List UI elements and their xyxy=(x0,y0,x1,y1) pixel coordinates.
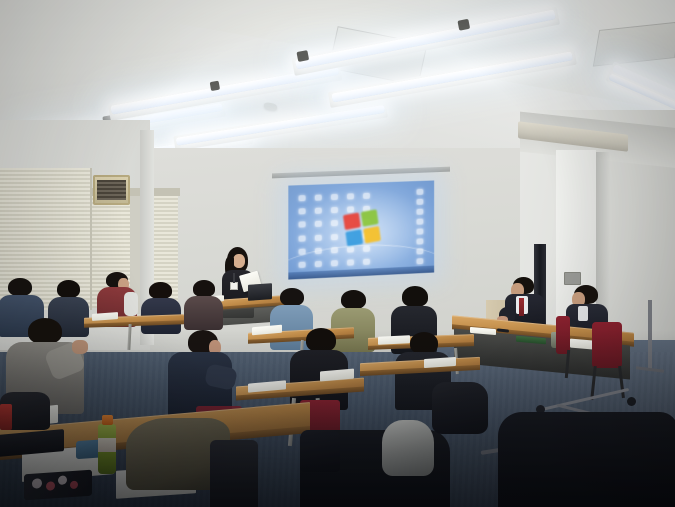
torso xyxy=(184,296,223,330)
desktop-icon xyxy=(362,192,369,198)
floral-pattern xyxy=(58,475,67,485)
floral-pattern xyxy=(32,478,42,489)
air-conditioner-grill xyxy=(97,180,126,200)
floral-pattern xyxy=(70,481,78,490)
desktop-icon xyxy=(346,206,353,212)
desktop-icon xyxy=(416,198,423,204)
attendee-red-sweater xyxy=(184,280,224,330)
stacking-chair xyxy=(556,316,570,354)
chair-back xyxy=(210,440,258,507)
lanyard-strap xyxy=(233,273,235,283)
windows-logo-pane-blue xyxy=(345,229,363,247)
hair xyxy=(402,286,428,307)
desktop-icon xyxy=(298,195,305,201)
windows-logo-pane-yellow xyxy=(363,226,381,244)
hair xyxy=(193,280,215,297)
desktop-icon xyxy=(330,220,337,226)
hand xyxy=(72,340,88,354)
wall-outlet-plate xyxy=(564,272,581,285)
red-can xyxy=(0,404,12,430)
student-desk xyxy=(360,360,480,384)
tote-bag xyxy=(300,430,340,472)
desktop-icon xyxy=(330,234,337,240)
hair xyxy=(28,318,62,344)
bottle-label xyxy=(98,438,116,452)
desktop-icon xyxy=(416,218,423,224)
white-plastic-bag xyxy=(382,420,434,476)
attendee-foreground-right xyxy=(498,412,675,507)
hair xyxy=(280,288,304,306)
desktop-icon xyxy=(416,239,423,245)
desktop-icon xyxy=(330,194,337,200)
desktop-icon xyxy=(314,221,321,227)
hair xyxy=(306,328,336,352)
bottle-cap xyxy=(102,415,113,425)
desktop-icon xyxy=(346,193,353,199)
classroom-scene: Classroom Presentation Scene A presenter… xyxy=(0,0,675,507)
floral-pattern xyxy=(46,481,55,491)
hair xyxy=(410,332,438,354)
necktie xyxy=(519,298,524,316)
equipment-stand xyxy=(648,300,652,370)
hair xyxy=(8,278,32,296)
hair xyxy=(57,280,80,298)
desktop-icon xyxy=(416,188,423,194)
desktop-icon xyxy=(298,235,305,241)
hair xyxy=(341,290,366,309)
desktop-icon xyxy=(416,228,423,234)
desktop-icon xyxy=(298,208,305,214)
green-tea-bottle xyxy=(98,424,116,474)
chair-caster xyxy=(627,397,636,406)
stacking-chair xyxy=(592,322,622,368)
hair xyxy=(149,282,172,299)
desktop-icon xyxy=(314,208,321,214)
windows-logo-pane-green xyxy=(361,209,379,227)
presenter-face xyxy=(233,254,245,268)
floral-pouch xyxy=(24,470,92,501)
desktop-icon xyxy=(416,208,423,214)
desktop-icon xyxy=(330,207,337,213)
torso xyxy=(498,412,675,507)
attendee-navy-jacket xyxy=(168,330,234,418)
windows-logo-icon xyxy=(343,209,381,247)
windows-logo-pane-red xyxy=(343,212,361,230)
shirt-sleeve xyxy=(124,292,138,316)
desktop-icon xyxy=(314,234,321,240)
backpack xyxy=(432,382,488,434)
desktop-icon xyxy=(298,222,305,228)
dress-shirt xyxy=(578,306,588,321)
desktop-icon xyxy=(314,194,321,200)
name-badge-lanyard xyxy=(230,282,238,290)
projected-desktop xyxy=(288,180,434,279)
